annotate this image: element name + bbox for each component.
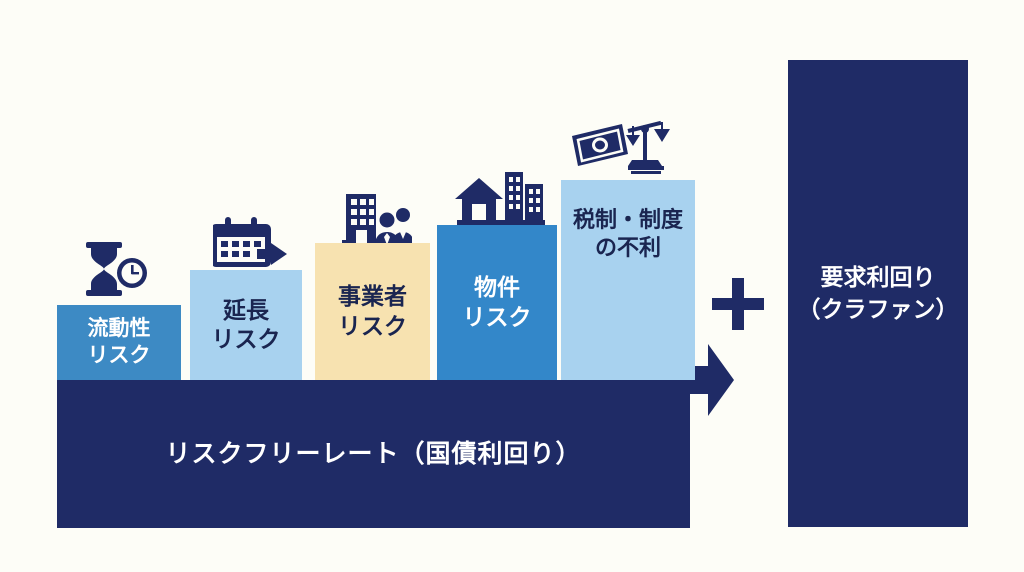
bar-property-risk-line1: 物件 (463, 273, 532, 302)
required-yield-panel: 要求利回り （クラファン） (788, 60, 968, 527)
bar-extension-risk: 延長 リスク (190, 270, 302, 380)
building-people-icon (340, 192, 412, 248)
money-scales-icon (570, 116, 672, 176)
required-yield-line1: 要求利回り (798, 262, 959, 293)
bar-operator-risk-line2: リスク (338, 312, 407, 341)
bar-tax-regulation-line2: の不利 (573, 234, 683, 262)
bar-tax-regulation-disadvantage: 税制・制度 の不利 (561, 180, 695, 380)
bar-liquidity-risk-line1: 流動性 (88, 316, 151, 343)
bar-property-risk-line2: リスク (463, 303, 532, 332)
bar-property-risk: 物件 リスク (437, 225, 557, 380)
bar-tax-regulation-line1: 税制・制度 (573, 206, 683, 234)
bar-operator-risk-line1: 事業者 (338, 282, 407, 311)
hourglass-clock-icon (78, 240, 150, 298)
diagram-canvas: リスクフリーレート（国債利回り） 流動性 リスク (0, 0, 1024, 572)
bar-extension-risk-line2: リスク (212, 325, 281, 354)
plus-icon (712, 278, 764, 330)
bar-operator-risk: 事業者 リスク (315, 243, 430, 380)
bar-extension-risk-line1: 延長 (212, 296, 281, 325)
bar-liquidity-risk: 流動性 リスク (57, 305, 181, 380)
required-yield-line2: （クラファン） (798, 294, 959, 325)
calendar-arrow-icon (213, 216, 289, 272)
house-city-icon (455, 170, 547, 226)
risk-free-rate-label: リスクフリーレート（国債利回り） (165, 439, 581, 469)
bar-liquidity-risk-line2: リスク (88, 343, 151, 370)
risk-free-rate-base-bar: リスクフリーレート（国債利回り） (57, 380, 690, 528)
